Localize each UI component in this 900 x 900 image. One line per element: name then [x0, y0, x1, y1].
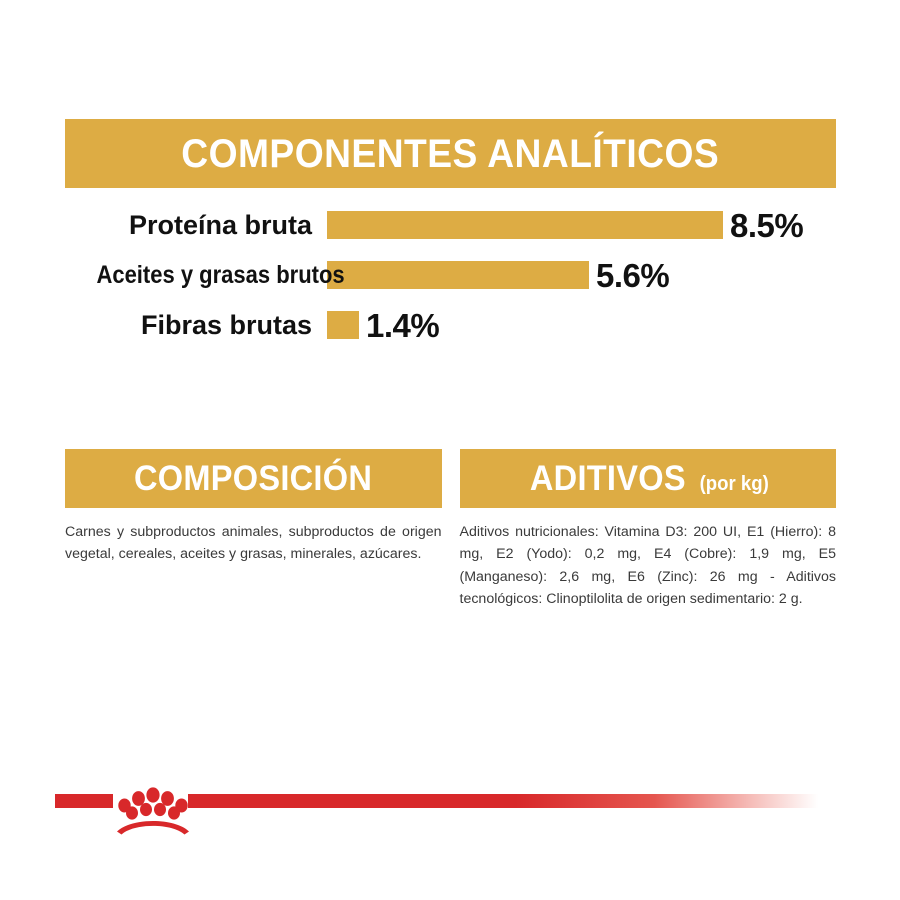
composition-heading-text: COMPOSICIÓN [134, 461, 372, 496]
chart-row: Aceites y grasas brutos 5.6% [65, 253, 855, 297]
footer-red-bar-left [55, 794, 113, 808]
footer-red-bar-right [188, 794, 818, 808]
analytical-components-banner: COMPONENTES ANALÍTICOS [65, 119, 836, 188]
additives-heading-text: ADITIVOS [530, 461, 686, 496]
chart-bar [327, 211, 723, 239]
chart-bar [327, 261, 589, 289]
analytical-components-chart: Proteína bruta 8.5% Aceites y grasas bru… [65, 203, 855, 353]
brand-footer [0, 780, 900, 836]
chart-bar-wrap: 8.5% [327, 209, 855, 242]
chart-value-label: 8.5% [730, 209, 803, 242]
chart-category-label: Aceites y grasas brutos [96, 263, 327, 288]
chart-bar-wrap: 5.6% [327, 259, 855, 292]
composition-heading-banner: COMPOSICIÓN [65, 449, 442, 508]
additives-heading-banner: ADITIVOS (por kg) [460, 449, 837, 508]
chart-category-label: Fibras brutas [65, 312, 327, 339]
additives-heading-subtext: (por kg) [700, 474, 769, 494]
additives-heading-inner: ADITIVOS (por kg) [524, 461, 772, 496]
composition-column: COMPOSICIÓN Carnes y subproductos animal… [65, 449, 442, 611]
chart-bar [327, 311, 359, 339]
composition-heading-inner: COMPOSICIÓN [125, 461, 381, 496]
chart-row: Fibras brutas 1.4% [65, 303, 855, 347]
chart-category-label: Proteína bruta [65, 212, 327, 239]
chart-value-label: 1.4% [366, 309, 439, 342]
additives-column: ADITIVOS (por kg) Aditivos nutricionales… [460, 449, 837, 611]
additives-body-text: Aditivos nutricionales: Vitamina D3: 200… [460, 521, 837, 611]
composition-body-text: Carnes y subproductos animales, subprodu… [65, 521, 442, 566]
detail-columns: COMPOSICIÓN Carnes y subproductos animal… [65, 449, 836, 611]
nutrition-info-panel: COMPONENTES ANALÍTICOS Proteína bruta 8.… [0, 0, 900, 900]
banner-title: COMPONENTES ANALÍTICOS [182, 134, 720, 174]
chart-row: Proteína bruta 8.5% [65, 203, 855, 247]
royal-canin-crown-icon [113, 780, 193, 836]
chart-value-label: 5.6% [596, 259, 669, 292]
chart-bar-wrap: 1.4% [327, 309, 855, 342]
